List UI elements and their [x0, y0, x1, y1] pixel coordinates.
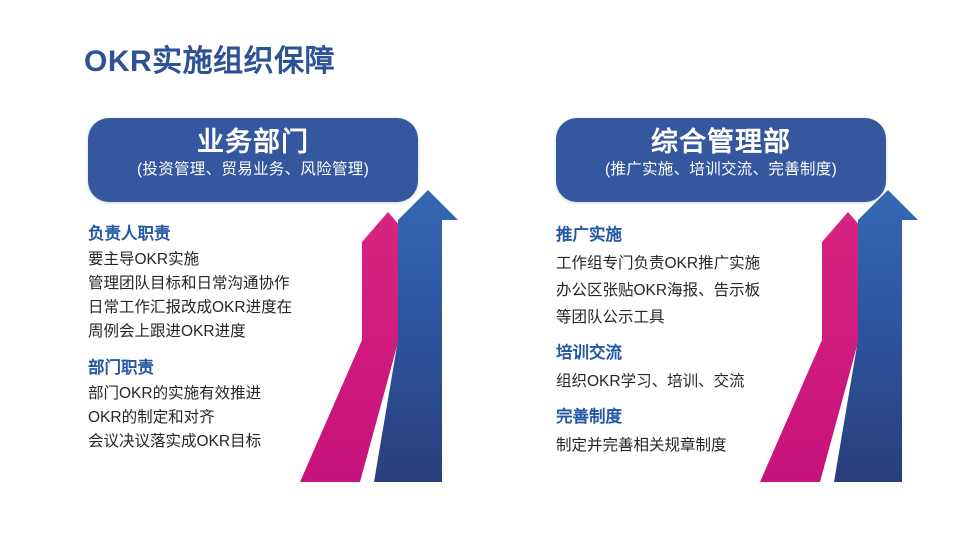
department-panel-management[interactable]: 综合管理部 (推广实施、培训交流、完善制度): [556, 118, 886, 202]
section-heading: 负责人职责: [88, 222, 350, 246]
section-line: 日常工作汇报改成OKR进度在: [88, 296, 350, 320]
section-line: 等团队公示工具: [556, 304, 838, 331]
department-title: 综合管理部: [556, 125, 886, 159]
section-line: 工作组专门负责OKR推广实施: [556, 250, 838, 277]
department-panel-business[interactable]: 业务部门 (投资管理、贸易业务、风险管理): [88, 118, 418, 202]
section-block: 培训交流 组织OKR学习、培训、交流: [556, 340, 838, 395]
section-line: OKR的制定和对齐: [88, 406, 350, 430]
department-title: 业务部门: [88, 125, 418, 159]
upward-arrow-blue-icon: [834, 190, 918, 482]
section-line: 管理团队目标和日常沟通协作: [88, 272, 350, 296]
section-heading: 推广实施: [556, 222, 838, 249]
upward-arrow-blue-icon: [374, 190, 458, 482]
section-line: 制定并完善相关规章制度: [556, 432, 838, 459]
section-line: 周例会上跟进OKR进度: [88, 320, 350, 344]
section-block: 部门职责 部门OKR的实施有效推进 OKR的制定和对齐 会议决议落实成OKR目标: [88, 356, 350, 454]
section-block: 推广实施 工作组专门负责OKR推广实施 办公区张贴OKR海报、告示板 等团队公示…: [556, 222, 838, 331]
section-line: 要主导OKR实施: [88, 248, 350, 272]
content-column-business: 负责人职责 要主导OKR实施 管理团队目标和日常沟通协作 日常工作汇报改成OKR…: [88, 222, 350, 454]
section-block: 完善制度 制定并完善相关规章制度: [556, 404, 838, 459]
section-heading: 培训交流: [556, 340, 838, 367]
page-title: OKR实施组织保障: [84, 36, 335, 80]
section-block: 负责人职责 要主导OKR实施 管理团队目标和日常沟通协作 日常工作汇报改成OKR…: [88, 222, 350, 344]
section-heading: 部门职责: [88, 356, 350, 380]
content-column-management: 推广实施 工作组专门负责OKR推广实施 办公区张贴OKR海报、告示板 等团队公示…: [556, 222, 838, 468]
department-subtitle: (投资管理、贸易业务、风险管理): [88, 159, 418, 181]
section-line: 办公区张贴OKR海报、告示板: [556, 277, 838, 304]
section-line: 会议决议落实成OKR目标: [88, 430, 350, 454]
section-line: 部门OKR的实施有效推进: [88, 382, 350, 406]
section-line: 组织OKR学习、培训、交流: [556, 368, 838, 395]
section-heading: 完善制度: [556, 404, 838, 431]
department-subtitle: (推广实施、培训交流、完善制度): [556, 159, 886, 181]
slide-canvas: OKR实施组织保障: [0, 0, 960, 540]
